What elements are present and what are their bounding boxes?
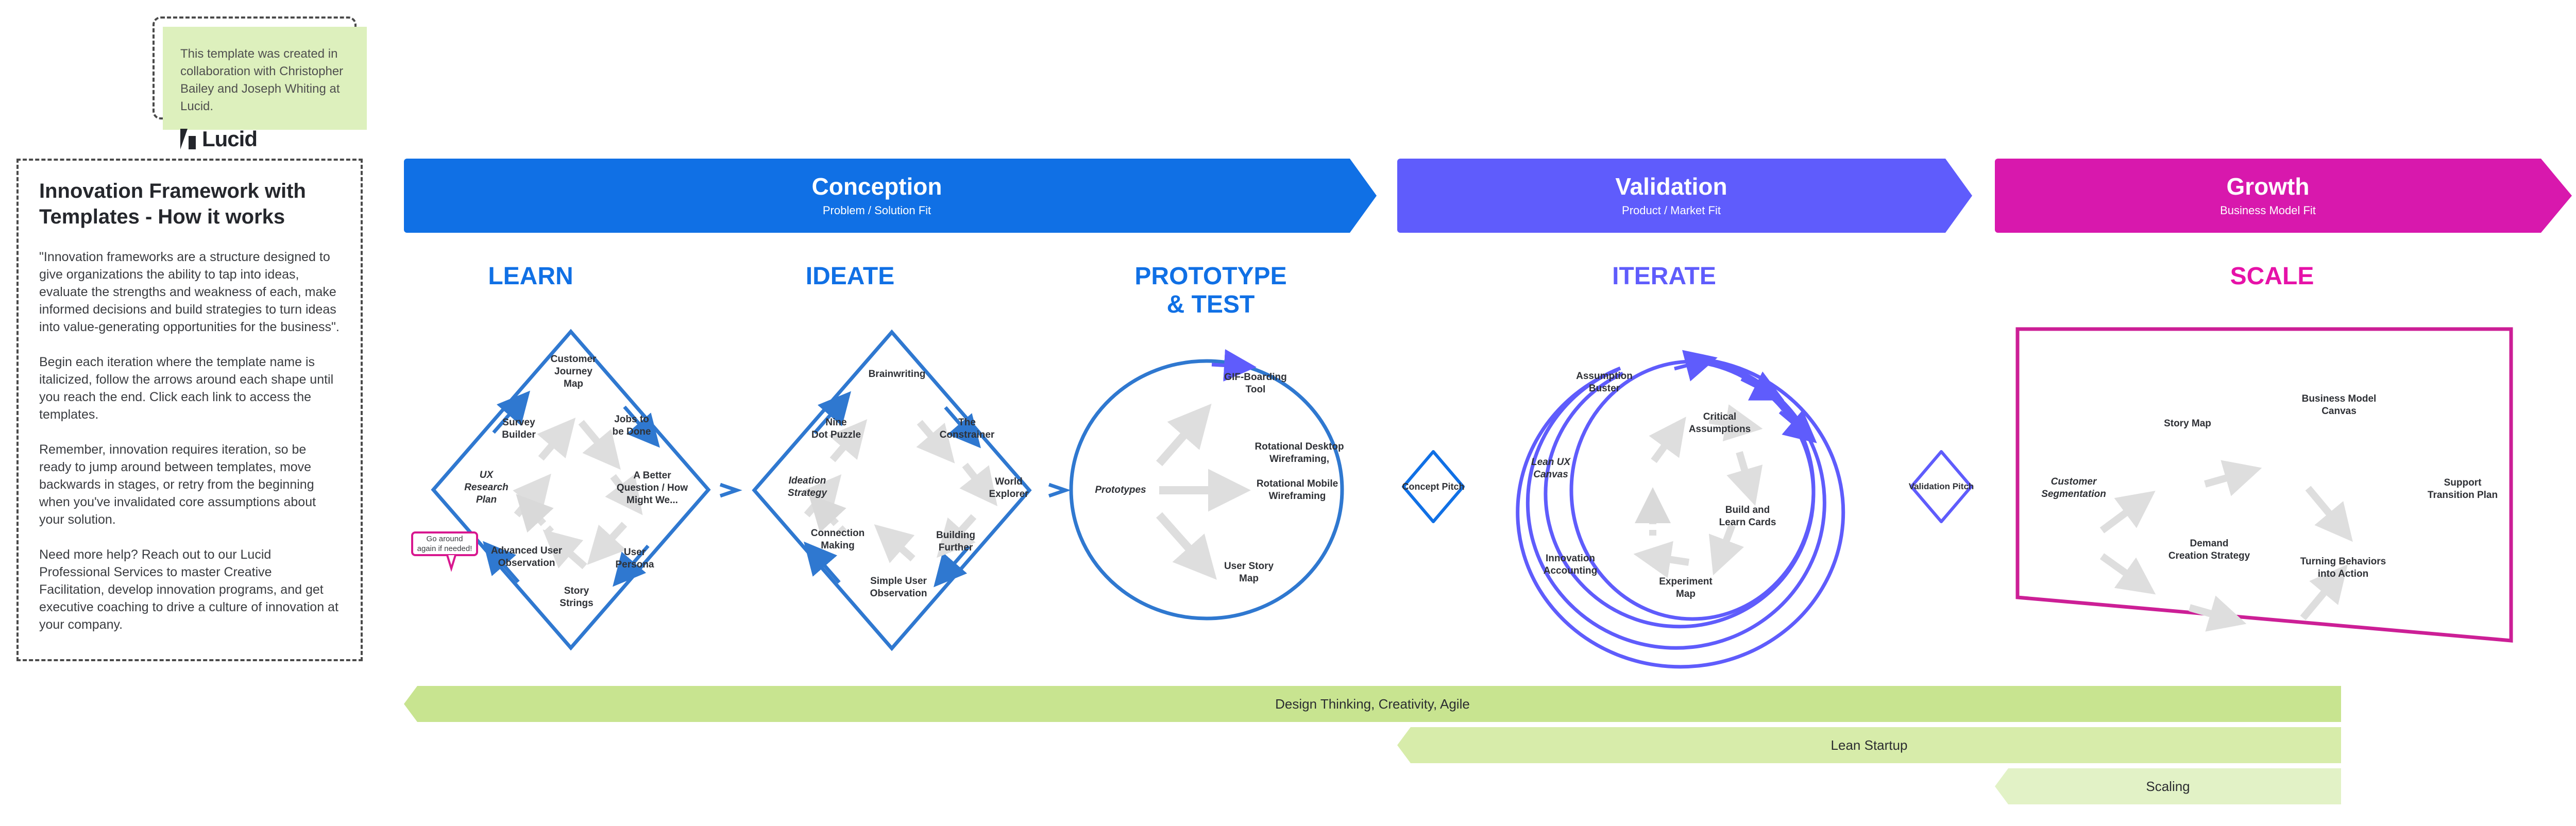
stage-heading-prototype: PROTOTYPE & TEST [1103,263,1319,319]
iterate-node-experiment-map[interactable]: Experiment Map [1659,576,1712,600]
ideate-node-the-constrainer[interactable]: The Constrainer [940,417,995,441]
band-design-thinking[interactable]: Design Thinking, Creativity, Agile [404,686,2341,722]
howto-paragraph-1: "Innovation frameworks are a structure d… [39,248,340,336]
iterate-spiral[interactable] [1518,359,1843,667]
scale-node-turning-behaviors[interactable]: Turning Behaviors into Action [2300,556,2386,580]
lucid-credit-note: This template was created in collaborati… [163,27,367,130]
how-it-works-panel: Innovation Framework with Templates - Ho… [16,159,363,661]
iterate-node-build-and-learn-cards[interactable]: Build and Learn Cards [1719,504,1776,529]
howto-paragraph-3: Remember, innovation requires iteration,… [39,441,340,528]
band-lean-startup[interactable]: Lean Startup [1397,727,2341,763]
phase-banner-growth[interactable]: Growth Business Model Fit [1995,159,2572,233]
iterate-node-lean-ux-canvas[interactable]: Lean UX Canvas [1531,456,1570,481]
phase-title: Growth [2227,173,2310,200]
learn-node-advanced-user-observation[interactable]: Advanced User Observation [491,545,562,570]
ideate-node-simple-user-observation[interactable]: Simple User Observation [870,575,927,600]
learn-node-customer-journey-map[interactable]: Customer Journey Map [551,353,597,390]
ideate-node-nine-dot-puzzle[interactable]: Nine Dot Puzzle [811,417,861,441]
lucid-logo-mark-icon [180,129,198,149]
lucid-logo: Lucid [180,127,349,151]
prototype-node-gif-boarding-tool[interactable]: GIF-Boarding Tool [1224,371,1286,396]
phase-banner-conception[interactable]: Conception Problem / Solution Fit [404,159,1377,233]
ideate-node-world-explorer[interactable]: World Explorer [989,476,1028,501]
stage-heading-scale: SCALE [2184,263,2360,291]
scale-node-story-map[interactable]: Story Map [2164,418,2211,430]
howto-paragraph-2: Begin each iteration where the template … [39,353,340,423]
callout-text: Go around again if needed! [417,534,472,554]
prototype-node-prototypes[interactable]: Prototypes [1095,484,1146,496]
learn-node-better-question[interactable]: A Better Question / How Might We... [617,470,688,507]
prototype-inner-arrows [1159,422,1226,561]
lucid-credit-text: This template was created in collaborati… [180,45,349,115]
iterate-node-innovation-accounting[interactable]: Innovation Accounting [1544,553,1598,577]
ideate-node-brainwriting[interactable]: Brainwriting [869,368,926,381]
iterate-inner-arrows [1653,420,1749,562]
phase-banner-validation[interactable]: Validation Product / Market Fit [1397,159,1972,233]
learn-node-story-strings[interactable]: Story Strings [560,585,593,610]
scale-node-business-model-canvas[interactable]: Business Model Canvas [2302,393,2377,418]
learn-node-ux-research-plan[interactable]: UX Research Plan [464,469,509,506]
band-label: Lean Startup [1831,737,1908,753]
phase-subtitle: Product / Market Fit [1622,203,1721,218]
scale-node-customer-segmentation[interactable]: Customer Segmentation [2041,476,2106,501]
prototype-node-rotational-mobile[interactable]: Rotational Mobile Wireframing [1257,478,1338,503]
lucid-wordmark: Lucid [202,127,257,151]
band-label: Scaling [2146,779,2190,795]
stage-heading-learn: LEARN [453,263,608,291]
phase-title: Conception [812,173,942,200]
prototype-node-rotational-desktop[interactable]: Rotational Desktop Wireframing, [1255,441,1344,466]
learn-node-user-persona[interactable]: User Persona [616,546,654,571]
stage-heading-iterate: ITERATE [1561,263,1767,291]
scale-node-support-transition-plan[interactable]: Support Transition Plan [2428,477,2498,502]
gateway-label-validation-pitch[interactable]: Validation Pitch [1909,480,1974,493]
learn-node-jobs-to-be-done[interactable]: Jobs to be Done [613,414,651,438]
phase-subtitle: Business Model Fit [2220,203,2316,218]
callout-go-around-again: Go around again if needed! [411,531,478,556]
howto-paragraph-4: Need more help? Reach out to our Lucid P… [39,546,340,633]
ideate-node-ideation-strategy[interactable]: Ideation Strategy [788,475,827,500]
band-scaling[interactable]: Scaling [1995,768,2341,804]
prototype-node-user-story-map[interactable]: User Story Map [1224,560,1274,585]
gateway-label-concept-pitch[interactable]: Concept Pitch [1402,480,1464,493]
scale-node-demand-creation-strategy[interactable]: Demand Creation Strategy [2168,538,2250,562]
ideate-node-building-further[interactable]: Building Further [936,529,975,554]
phase-title: Validation [1615,173,1727,200]
band-label: Design Thinking, Creativity, Agile [1275,696,1470,712]
phase-subtitle: Problem / Solution Fit [823,203,931,218]
stage-heading-ideate: IDEATE [773,263,927,291]
iterate-node-critical-assumptions[interactable]: Critical Assumptions [1689,411,1751,436]
ideate-node-connection-making[interactable]: Connection Making [811,527,865,552]
iterate-node-assumption-buster[interactable]: Assumption Buster [1576,370,1633,395]
learn-node-survey-builder[interactable]: Survey Builder [502,417,535,441]
page-title: Innovation Framework with Templates - Ho… [39,178,340,230]
